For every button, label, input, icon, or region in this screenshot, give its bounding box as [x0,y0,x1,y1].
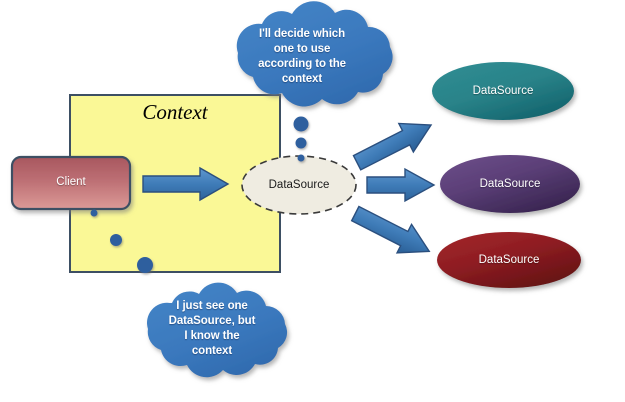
thought-bubble-medium-bottom [110,234,122,246]
datasource-ellipse-purple[interactable] [440,155,580,213]
thought-bubble-large-top [294,117,309,132]
thought-bubble-small-bottom [91,210,98,217]
datasource-ellipse-teal[interactable] [432,62,574,120]
arrow-datasource-to-purple [367,169,434,201]
arrow-datasource-to-red [348,199,436,265]
datasource-ellipse-red[interactable] [437,232,581,288]
thought-bubble-large-bottom [137,257,153,273]
context-decision-cloud[interactable] [237,1,393,106]
arrow-datasource-to-teal [350,111,438,177]
center-datasource-ellipse[interactable] [242,156,356,214]
diagram-canvas: Context Client DataSource DataSource Dat… [0,0,625,402]
client-box[interactable] [12,157,130,209]
thought-bubble-medium-top [296,138,307,149]
thought-bubble-small-top [298,155,305,162]
client-thought-cloud[interactable] [147,283,287,378]
diagram-shapes-layer [0,0,625,402]
